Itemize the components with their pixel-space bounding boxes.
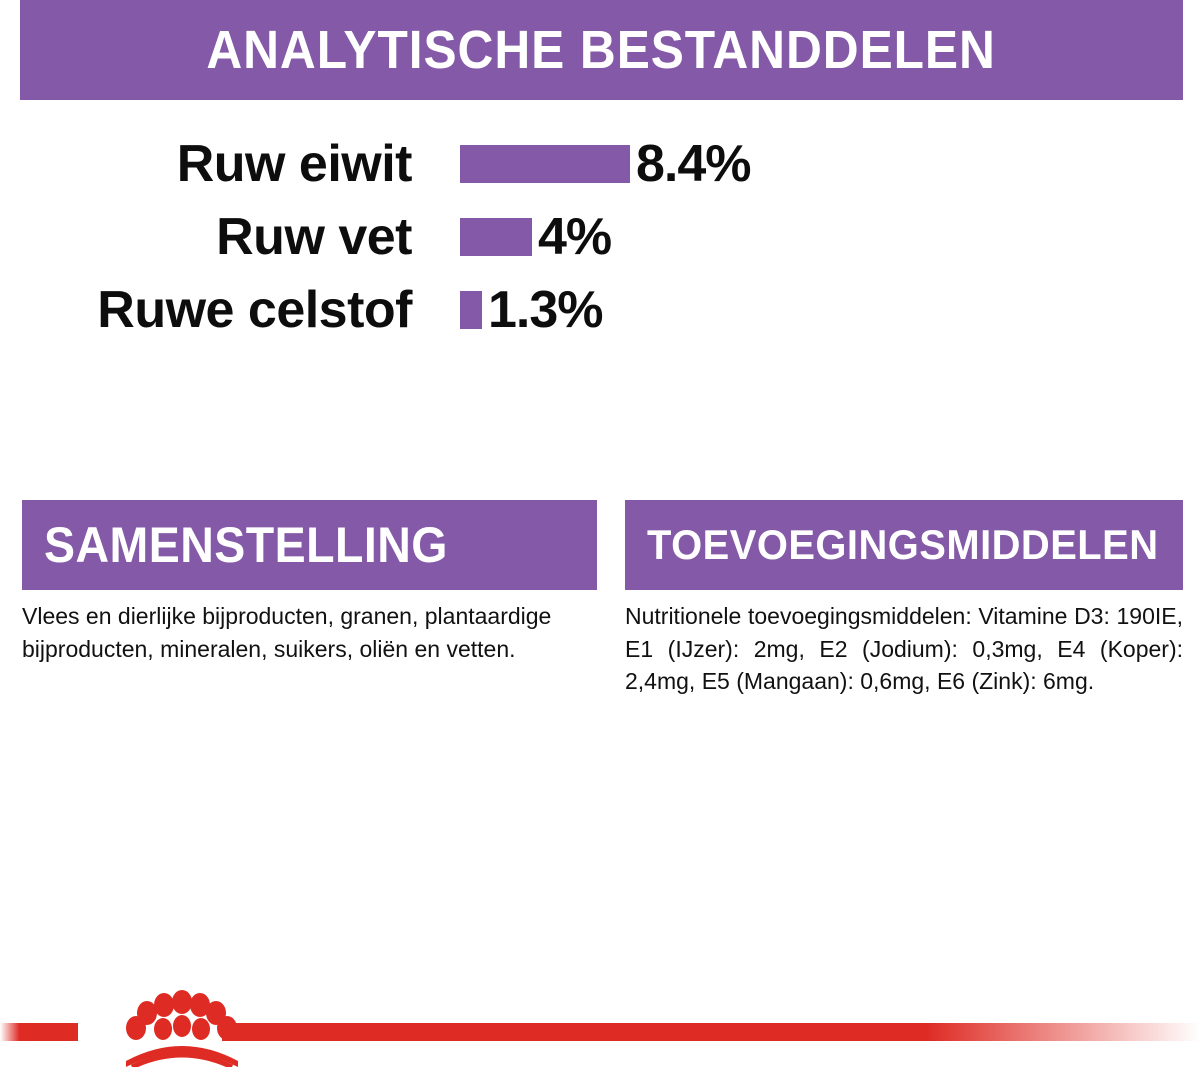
- chart-row-label: Ruw eiwit: [0, 138, 412, 190]
- analytical-constituents-header: ANALYTISCHE BESTANDDELEN: [20, 0, 1183, 100]
- additives-panel: TOEVOEGINGSMIDDELEN (/kg) Nutritionele t…: [625, 500, 1183, 698]
- chart-row-value: 8.4%: [636, 138, 751, 190]
- chart-row: Ruw vet 4%: [0, 211, 1200, 263]
- chart-row-label: Ruwe celstof: [0, 284, 412, 336]
- analytical-constituents-chart: Ruw eiwit 8.4% Ruw vet 4% Ruwe celstof 1…: [0, 118, 1200, 368]
- additives-header: TOEVOEGINGSMIDDELEN (/kg): [625, 500, 1183, 590]
- chart-bar-group: 1.3%: [460, 284, 603, 336]
- crown-icon: [0, 985, 1200, 1067]
- chart-row-value: 1.3%: [488, 284, 603, 336]
- chart-bar-group: 4%: [460, 211, 611, 263]
- additives-body-text: Nutritionele toevoegingsmiddelen: Vitami…: [625, 590, 1183, 698]
- page-title: ANALYTISCHE BESTANDDELEN: [207, 23, 996, 77]
- chart-row: Ruwe celstof 1.3%: [0, 284, 1200, 336]
- chart-row-label: Ruw vet: [0, 211, 412, 263]
- chart-bar: [460, 291, 482, 329]
- chart-bar: [460, 218, 532, 256]
- chart-bar-group: 8.4%: [460, 138, 751, 190]
- composition-heading: SAMENSTELLING: [44, 520, 448, 570]
- additives-heading-unit: (/kg): [1193, 530, 1200, 561]
- composition-panel: SAMENSTELLING Vlees en dierlijke bijprod…: [22, 500, 597, 665]
- composition-body-text: Vlees en dierlijke bijproducten, granen,…: [22, 590, 597, 665]
- chart-row-value: 4%: [538, 211, 611, 263]
- chart-row: Ruw eiwit 8.4%: [0, 138, 1200, 190]
- composition-header: SAMENSTELLING: [22, 500, 597, 590]
- royal-canin-crown-logo: [0, 985, 1200, 1067]
- chart-bar: [460, 145, 630, 183]
- additives-heading: TOEVOEGINGSMIDDELEN: [647, 524, 1159, 566]
